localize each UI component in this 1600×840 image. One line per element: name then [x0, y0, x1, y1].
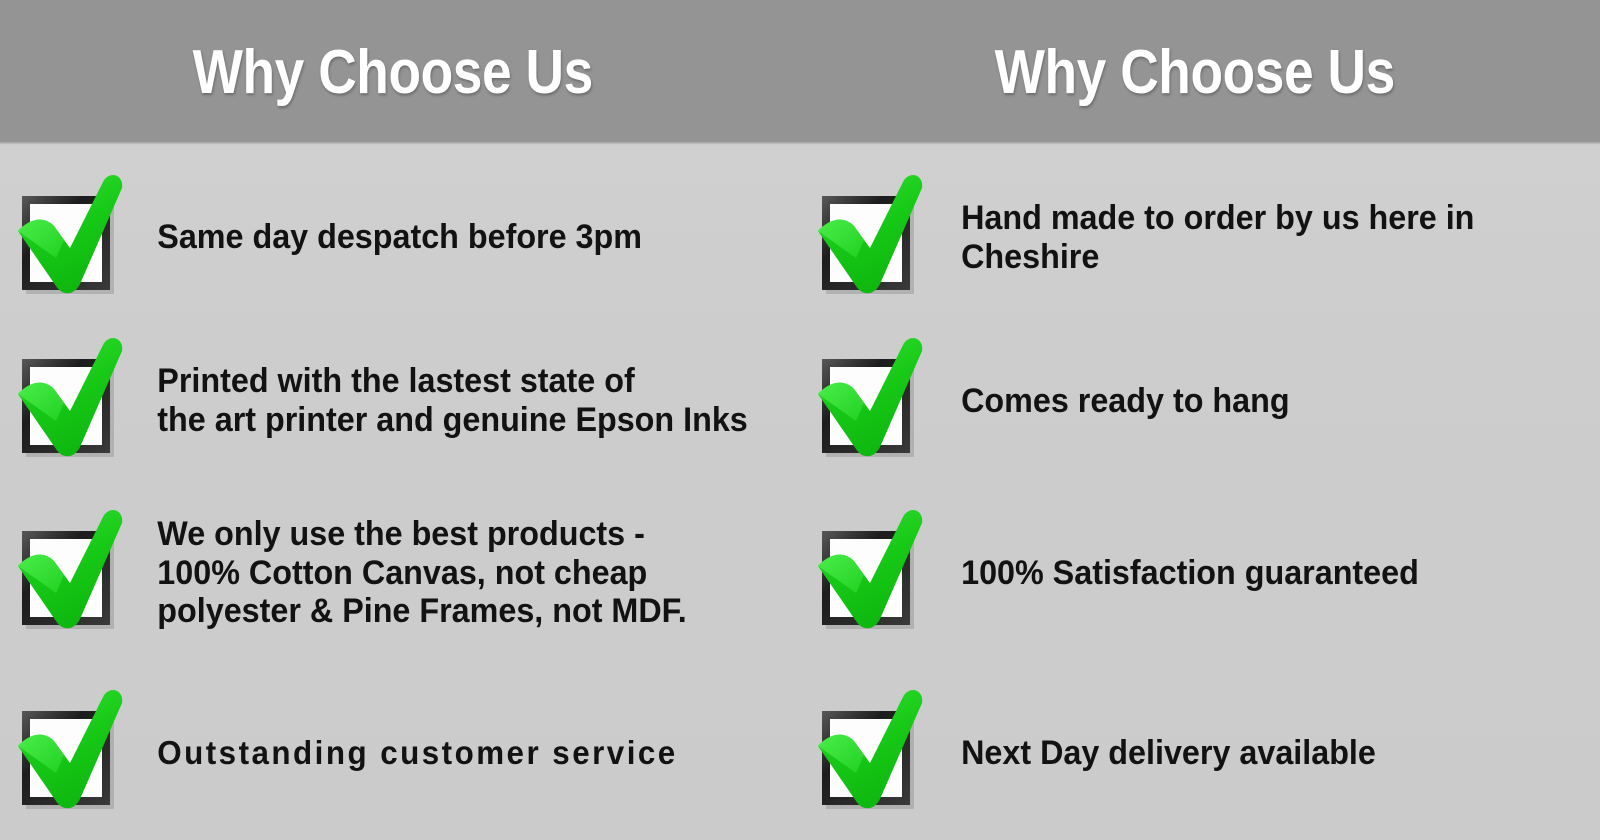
green-check-box-icon — [812, 509, 930, 637]
list-item: Comes ready to hang — [0, 322, 1600, 479]
list-item: Next Day delivery available — [0, 666, 1600, 840]
green-check-box-icon — [812, 174, 930, 302]
header-half-left: Why Choose Us — [0, 0, 800, 145]
feature-columns: Same day despatch before 3pm — [0, 145, 1600, 840]
page-title-right: Why Choose Us — [995, 42, 1395, 104]
feature-text: 100% Satisfaction guaranteed — [944, 554, 1419, 592]
list-item: 100% Satisfaction guaranteed — [0, 479, 1600, 666]
header-half-right: Why Choose Us — [800, 0, 1600, 145]
feature-text: Comes ready to hang — [944, 382, 1290, 420]
feature-text: Next Day delivery available — [944, 734, 1376, 772]
feature-text: Hand made to order by us here in Cheshir… — [944, 199, 1474, 275]
green-check-box-icon — [812, 689, 930, 817]
feature-list-right: Hand made to order by us here in Cheshir… — [800, 153, 1600, 840]
green-check-box-icon — [812, 337, 930, 465]
header-band: Why Choose Us Why Choose Us — [0, 0, 1600, 145]
why-choose-us-poster: Why Choose Us Why Choose Us — [0, 0, 1600, 840]
page-title-left: Why Choose Us — [192, 42, 592, 104]
feature-column-right: Hand made to order by us here in Cheshir… — [800, 145, 1600, 840]
list-item: Hand made to order by us here in Cheshir… — [0, 153, 1600, 322]
